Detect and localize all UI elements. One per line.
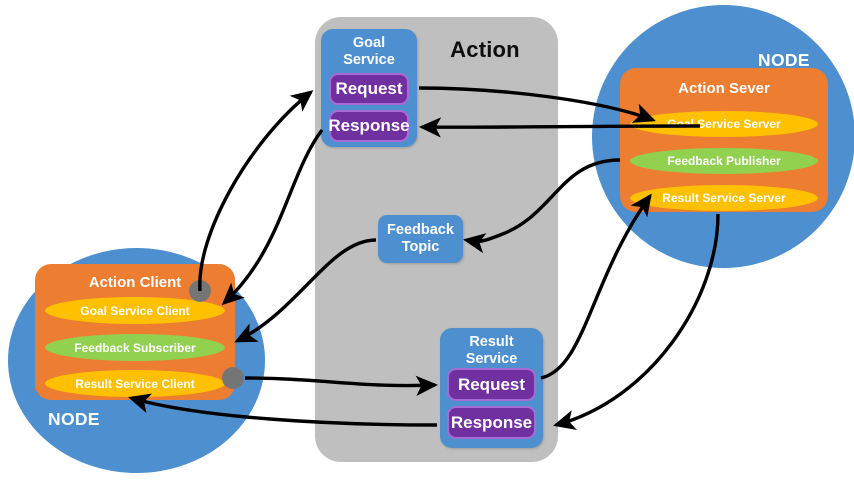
client-node-label: NODE — [48, 409, 100, 430]
goal-service-request-pill: Request — [329, 73, 409, 105]
action-server-title: Action Sever — [620, 80, 828, 97]
feedback-publisher-pill: Feedback Publisher — [630, 148, 818, 174]
goal-service-title-line1: Goal — [321, 35, 417, 52]
goal-service-server-pill: Goal Service Server — [630, 111, 818, 137]
action-group-label: Action — [430, 37, 540, 63]
server-node-label: NODE — [758, 50, 810, 71]
arrow-goal-response-to-goal-client — [224, 130, 322, 303]
goal-client-connector-dot — [189, 280, 211, 302]
result-service-title: Result Service — [440, 334, 543, 368]
diagram-canvas: Action NODE NODE Action Client Goal Serv… — [0, 0, 854, 480]
goal-service-title-line2: Service — [321, 52, 417, 69]
result-service-title-line1: Result — [440, 334, 543, 351]
result-client-connector-dot — [222, 367, 244, 389]
feedback-subscriber-pill: Feedback Subscriber — [45, 334, 225, 361]
action-server-box: Action Sever Goal Service Server Feedbac… — [620, 68, 828, 212]
feedback-topic-line1: Feedback — [387, 222, 454, 239]
result-service-server-pill: Result Service Server — [630, 185, 818, 211]
goal-service-response-pill: Response — [329, 110, 409, 142]
result-service-response-pill: Response — [447, 406, 536, 439]
result-service-title-line2: Service — [440, 351, 543, 368]
goal-service-box: Goal Service Request Response — [321, 29, 417, 147]
feedback-topic-line2: Topic — [402, 239, 440, 256]
arrow-goal-client-to-goal-request — [200, 92, 311, 291]
result-service-box: Result Service Request Response — [440, 328, 543, 448]
result-service-client-pill: Result Service Client — [45, 370, 225, 397]
result-service-request-pill: Request — [447, 368, 536, 401]
goal-service-title: Goal Service — [321, 35, 417, 69]
feedback-topic-box: Feedback Topic — [378, 215, 463, 263]
